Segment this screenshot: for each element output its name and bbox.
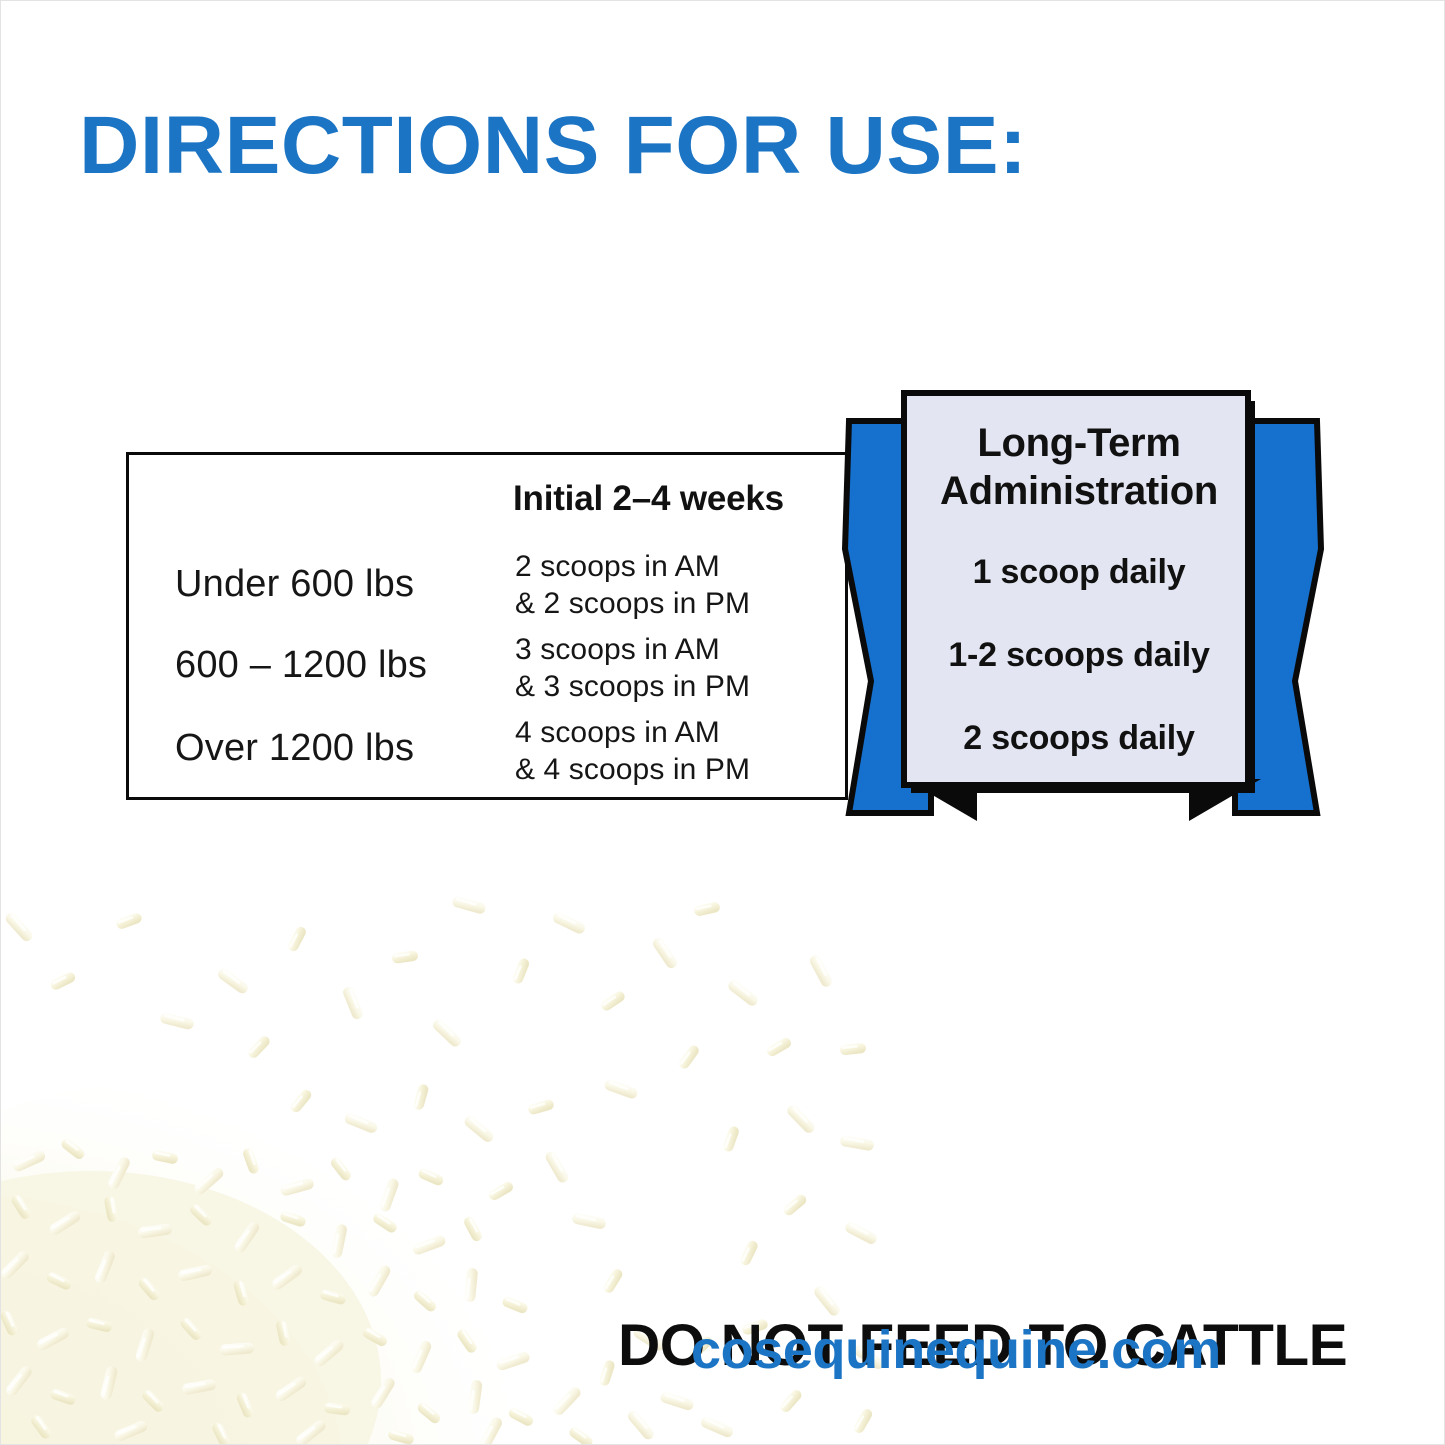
table-row-dose: 4 scoops in AM& 4 scoops in PM [515, 715, 750, 788]
table-row-weight: Under 600 lbs [175, 563, 414, 606]
table-row-dose: 2 scoops in AM& 2 scoops in PM [515, 549, 750, 622]
table-row-weight: 600 – 1200 lbs [175, 644, 427, 687]
website-url[interactable]: cosequinequine.com [691, 1319, 1221, 1381]
long-term-administration-ribbon [827, 381, 1339, 841]
ribbon-center-panel [904, 393, 1248, 785]
table-column-header: Initial 2–4 weeks [513, 479, 784, 519]
table-row-weight: Over 1200 lbs [175, 727, 414, 770]
table-row-dose: 3 scoops in AM& 3 scoops in PM [515, 632, 750, 705]
product-label-directions-panel: DIRECTIONS FOR USE: [0, 0, 1445, 1445]
page-title: DIRECTIONS FOR USE: [79, 105, 1027, 187]
warning-text: DO NOT FEED TO CATTLE OR OTHER RUMINANTS [618, 1181, 1347, 1445]
